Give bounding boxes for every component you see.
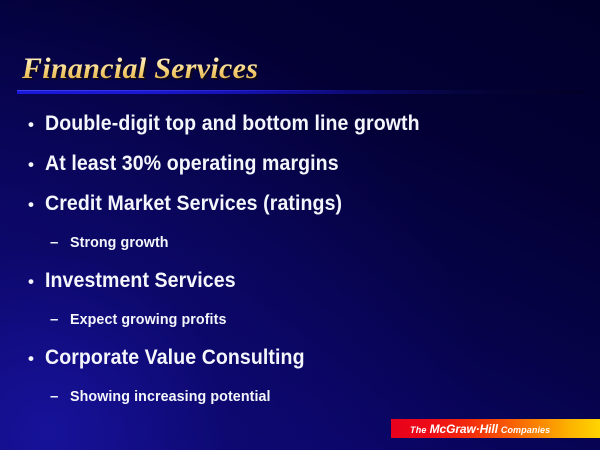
logo-suffix: Companies bbox=[501, 425, 550, 435]
bullet-list: •Double-digit top and bottom line growth… bbox=[0, 104, 600, 415]
bullet-dot-icon: • bbox=[28, 262, 45, 302]
bullet-item: •Credit Market Services (ratings) bbox=[0, 184, 600, 224]
mcgraw-hill-logo: The McGraw·Hill Companies bbox=[391, 419, 600, 438]
mcgraw-hill-logo-text: The McGraw·Hill Companies bbox=[410, 422, 550, 436]
bullet-label: Investment Services bbox=[45, 261, 236, 301]
bullet-label: Strong growth bbox=[70, 224, 169, 261]
sub-bullet-item: –Strong growth bbox=[0, 224, 600, 261]
bullet-item: •At least 30% operating margins bbox=[0, 144, 600, 184]
bullet-label: Showing increasing potential bbox=[70, 378, 271, 415]
bullet-dash-icon: – bbox=[50, 224, 70, 261]
bullet-label: Credit Market Services (ratings) bbox=[45, 184, 342, 224]
bullet-label: Expect growing profits bbox=[70, 301, 226, 338]
sub-bullet-item: –Showing increasing potential bbox=[0, 378, 600, 415]
bullet-dash-icon: – bbox=[50, 378, 70, 415]
bullet-item: •Corporate Value Consulting bbox=[0, 338, 600, 378]
page-title: Financial Services bbox=[22, 52, 258, 86]
bullet-item: •Investment Services bbox=[0, 261, 600, 301]
bullet-dot-icon: • bbox=[28, 145, 45, 185]
title-divider-highlight bbox=[17, 90, 347, 91]
bullet-dot-icon: • bbox=[28, 105, 45, 145]
bullet-dash-icon: – bbox=[50, 301, 70, 338]
presentation-slide: Financial Services Financial Services •D… bbox=[0, 0, 600, 450]
bullet-dot-icon: • bbox=[28, 185, 45, 225]
bullet-label: Corporate Value Consulting bbox=[45, 338, 305, 378]
bullet-label: Double-digit top and bottom line growth bbox=[45, 104, 420, 144]
bullet-item: •Double-digit top and bottom line growth bbox=[0, 104, 600, 144]
bullet-label: At least 30% operating margins bbox=[45, 144, 339, 184]
logo-prefix: The bbox=[410, 425, 427, 435]
logo-brand: McGraw·Hill bbox=[430, 422, 498, 436]
bullet-dot-icon: • bbox=[28, 339, 45, 379]
sub-bullet-item: –Expect growing profits bbox=[0, 301, 600, 338]
